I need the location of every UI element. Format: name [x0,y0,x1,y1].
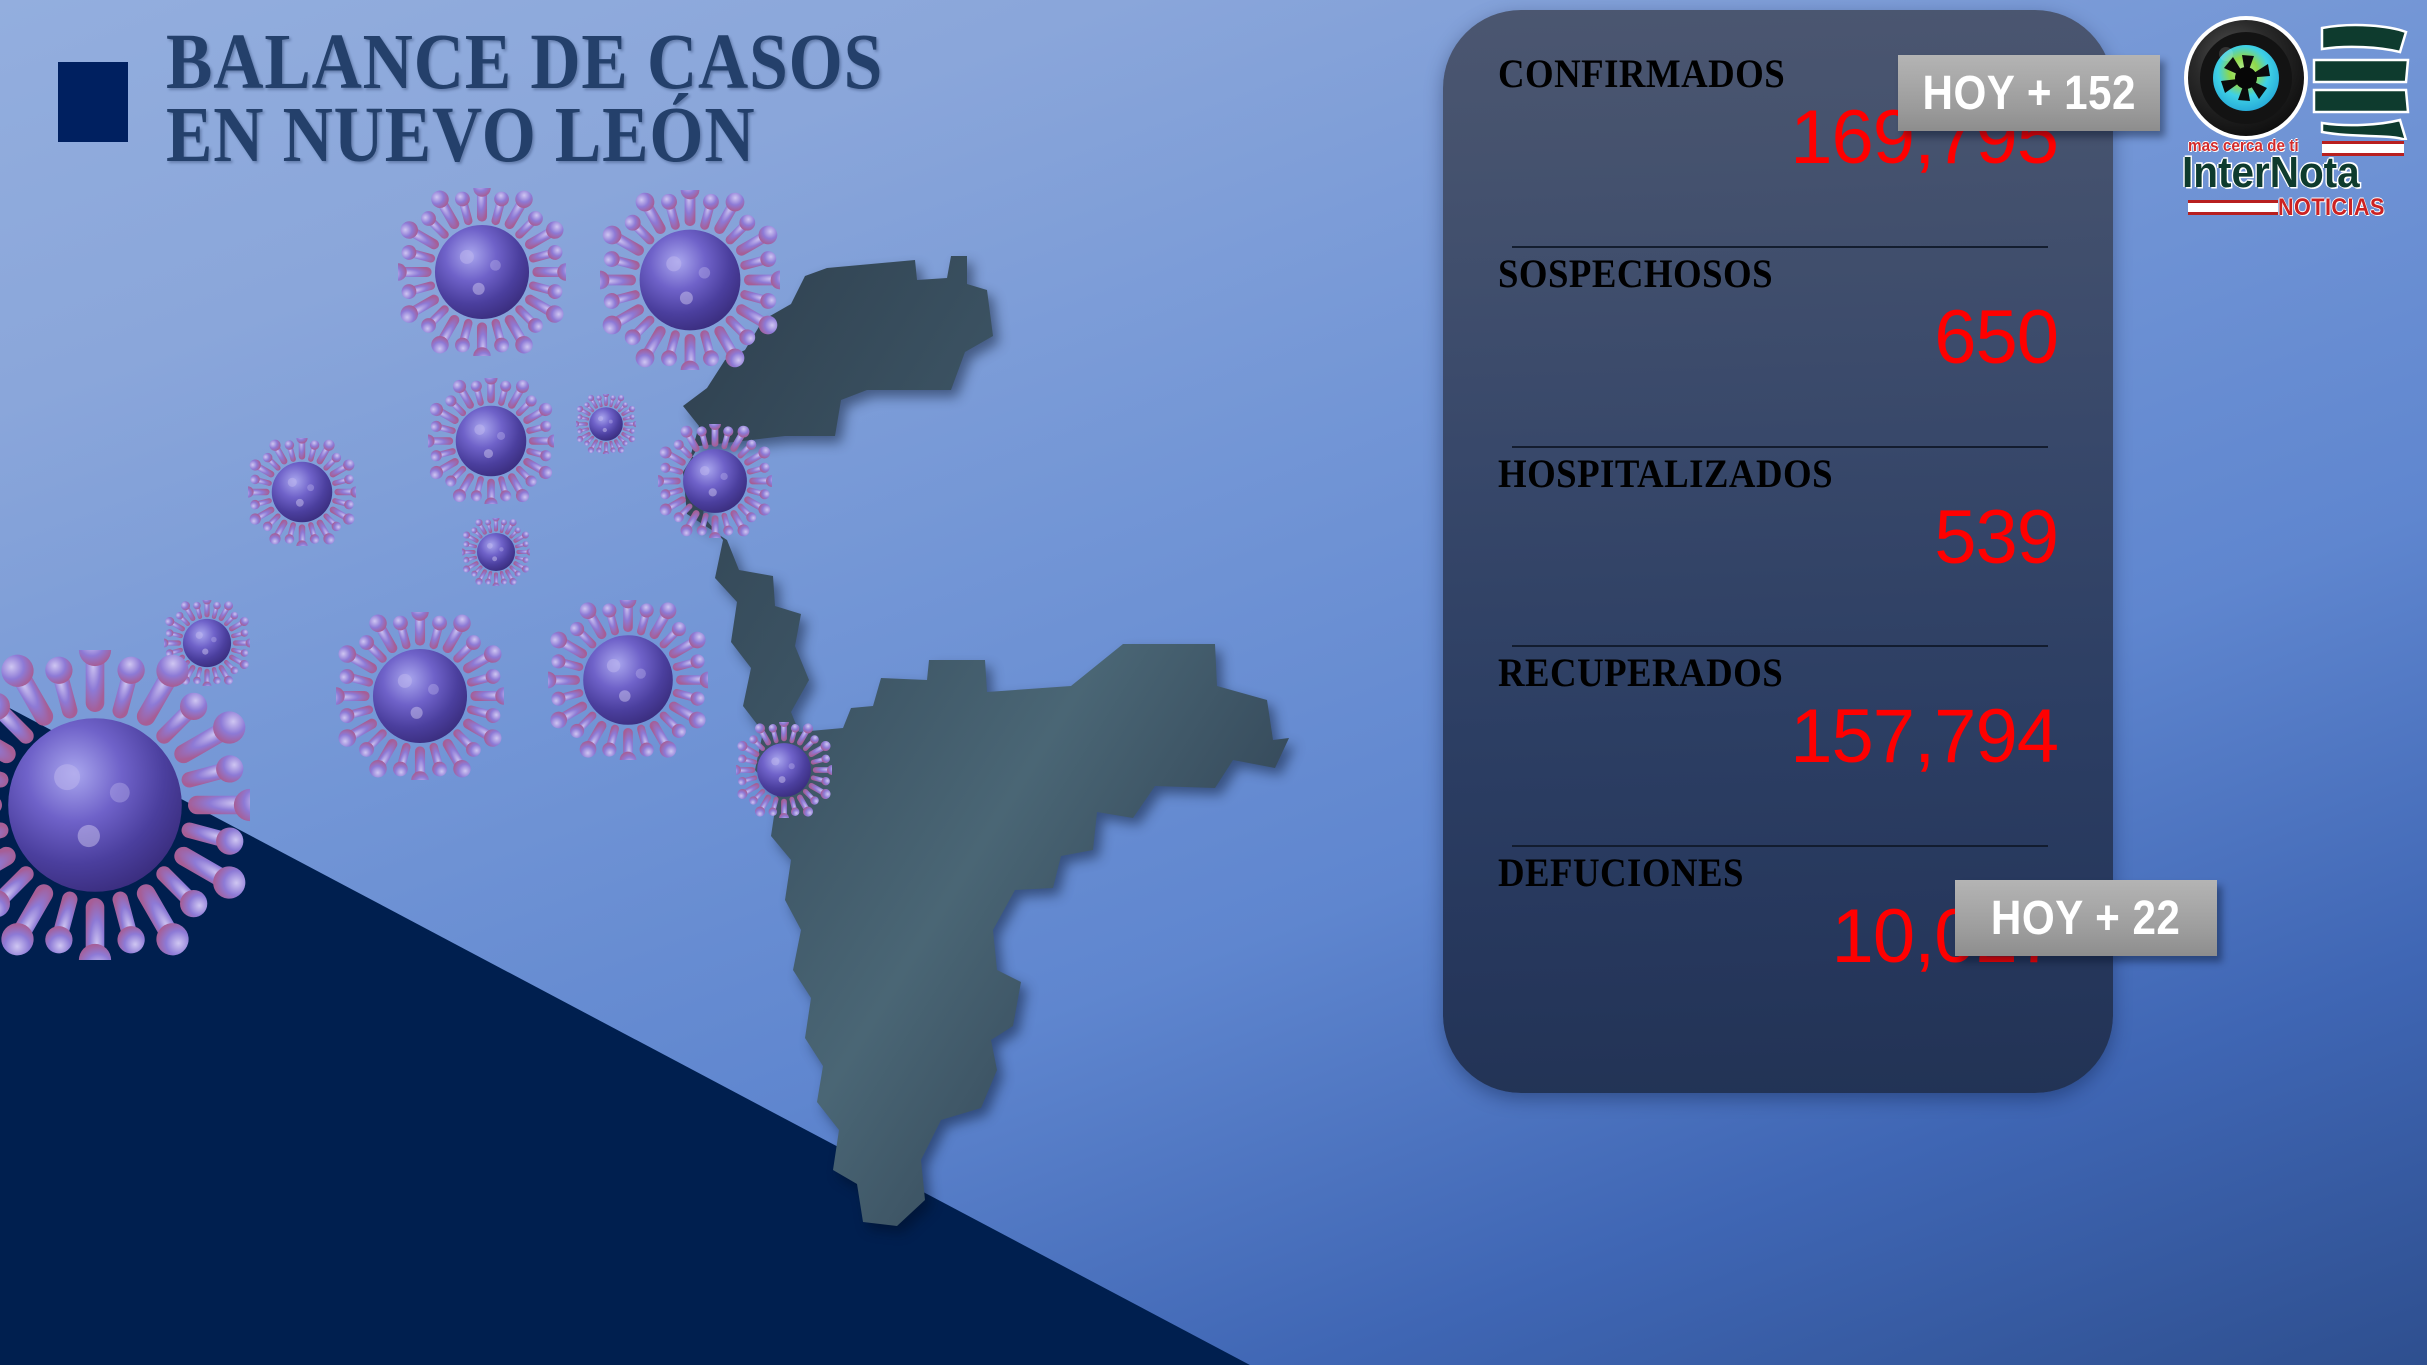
status-badge-label: HOY + 22 [1991,891,2180,946]
status-badge-label: HOY + 152 [1922,66,2135,121]
status-badge-defuciones: HOY + 22 [1955,880,2217,956]
stat-label: DEFUCIONES [1498,853,2013,893]
camera-lens-icon [2182,14,2310,142]
stat-label: RECUPERADOS [1498,653,2013,693]
stat-label: SOSPECHOSOS [1498,254,2013,294]
page-title: BALANCE DE CASOS EN NUEVO LEÓN [58,26,1258,206]
stat-value: 650 [1498,300,2058,376]
stat-divider [1512,246,2048,248]
infographic-canvas: BALANCE DE CASOS EN NUEVO LEÓN [0,0,2427,1365]
stat-label: HOSPITALIZADOS [1498,454,2013,494]
title-square-marker [58,62,128,142]
stat-row-hospitalizados: HOSPITALIZADOS 539 [1498,454,2058,654]
status-badge-confirmados: HOY + 152 [1898,55,2160,131]
title-line-2: EN NUEVO LEÓN [166,99,1099,172]
logo-name: InterNota [2182,151,2394,195]
nuevo-leon-map [595,240,1315,1250]
stat-row-recuperados: RECUPERADOS 157,794 [1498,653,2058,853]
logo-subtitle-rule [2188,200,2278,215]
stat-value: 539 [1498,500,2058,576]
stat-value: 157,794 [1498,699,2058,775]
title-text-block: BALANCE DE CASOS EN NUEVO LEÓN [166,26,1099,173]
internota-logo: mas cerca de ti InterNota NOTICIAS [2170,8,2418,188]
nuevo-leon-map-svg [595,240,1315,1250]
stat-divider [1512,845,2048,847]
stat-row-sospechosos: SOSPECHOSOS 650 [1498,254,2058,454]
stat-divider [1512,446,2048,448]
stat-divider [1512,645,2048,647]
logo-subtitle: NOTICIAS [2278,194,2404,222]
